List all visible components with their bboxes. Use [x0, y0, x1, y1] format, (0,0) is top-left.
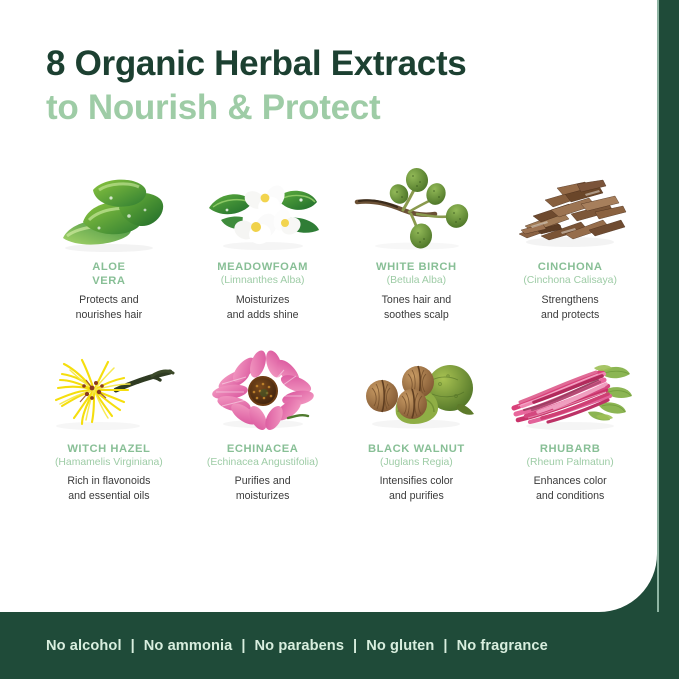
claim-no-fragrance: No fragrance — [457, 638, 548, 654]
extract-name: CINCHONA — [538, 260, 603, 274]
claims-list: No alcohol | No ammonia | No parabens | … — [46, 638, 548, 654]
extract-latin-name: (Hamamelis Virginiana) — [55, 456, 163, 470]
extract-name: ALOE VERA — [92, 260, 125, 289]
extract-name: RHUBARB — [540, 442, 600, 456]
extract-latin-name: (Betula Alba) — [387, 274, 447, 288]
black-walnut-icon — [343, 346, 489, 434]
claim-no-alcohol: No alcohol — [46, 638, 122, 654]
witch-hazel-flower-icon — [36, 346, 182, 434]
extracts-grid: ALOE VERA Protects and nourishes hair — [0, 164, 679, 505]
aloe-vera-icon — [36, 164, 182, 252]
meadowfoam-flower-icon — [190, 164, 336, 252]
extract-description: Tones hair and soothes scalp — [382, 293, 452, 323]
header: 8 Organic Herbal Extracts to Nourish & P… — [0, 0, 679, 128]
extract-description: Purifies and moisturizes — [235, 474, 291, 504]
echinacea-flower-icon — [190, 346, 336, 434]
claim-no-ammonia: No ammonia — [144, 638, 233, 654]
extract-name: MEADOWFOAM — [217, 260, 308, 274]
extract-latin-name: (Cinchona Calisaya) — [523, 274, 617, 288]
extract-latin-name: (Echinacea Angustifolia) — [207, 456, 318, 470]
extract-card-witch-hazel: WITCH HAZEL (Hamamelis Virginiana) Rich … — [34, 346, 184, 505]
extract-description: Strengthens and protects — [541, 293, 599, 323]
cinchona-bark-icon — [497, 164, 643, 252]
claim-no-gluten: No gluten — [366, 638, 434, 654]
claim-separator: | — [131, 638, 135, 654]
extract-card-rhubarb: RHUBARB (Rheum Palmatun) Enhances color … — [495, 346, 645, 505]
page-title: 8 Organic Herbal Extracts — [46, 44, 679, 84]
extract-description: Intensifies color and purifies — [380, 474, 454, 504]
extract-card-aloe-vera: ALOE VERA Protects and nourishes hair — [34, 164, 184, 324]
extract-latin-name: (Juglans Regia) — [380, 456, 453, 470]
extract-description: Moisturizes and adds shine — [227, 293, 299, 323]
extract-description: Enhances color and conditions — [534, 474, 607, 504]
claim-no-parabens: No parabens — [255, 638, 345, 654]
extract-name: BLACK WALNUT — [368, 442, 465, 456]
extract-card-white-birch: WHITE BIRCH (Betula Alba) Tones hair and… — [342, 164, 492, 324]
claims-footer: No alcohol | No ammonia | No parabens | … — [0, 612, 679, 679]
extract-card-black-walnut: BLACK WALNUT (Juglans Regia) Intensifies… — [342, 346, 492, 505]
claim-separator: | — [353, 638, 357, 654]
extract-card-cinchona: CINCHONA (Cinchona Calisaya) Strengthens… — [495, 164, 645, 324]
extract-card-meadowfoam: MEADOWFOAM (Limnanthes Alba) Moisturizes… — [188, 164, 338, 324]
extract-description: Protects and nourishes hair — [76, 293, 143, 323]
extract-name: WHITE BIRCH — [376, 260, 457, 274]
extract-card-echinacea: ECHINACEA (Echinacea Angustifolia) Purif… — [188, 346, 338, 505]
claim-separator: | — [241, 638, 245, 654]
claim-separator: | — [443, 638, 447, 654]
extract-description: Rich in flavonoids and essential oils — [67, 474, 150, 504]
infographic-root: 8 Organic Herbal Extracts to Nourish & P… — [0, 0, 679, 679]
white-birch-branch-icon — [343, 164, 489, 252]
extract-latin-name: (Limnanthes Alba) — [221, 274, 305, 288]
extract-latin-name: (Rheum Palmatun) — [527, 456, 614, 470]
rhubarb-stalks-icon — [497, 346, 643, 434]
page-subtitle: to Nourish & Protect — [46, 88, 679, 128]
extract-name: ECHINACEA — [227, 442, 298, 456]
extract-name: WITCH HAZEL — [67, 442, 150, 456]
